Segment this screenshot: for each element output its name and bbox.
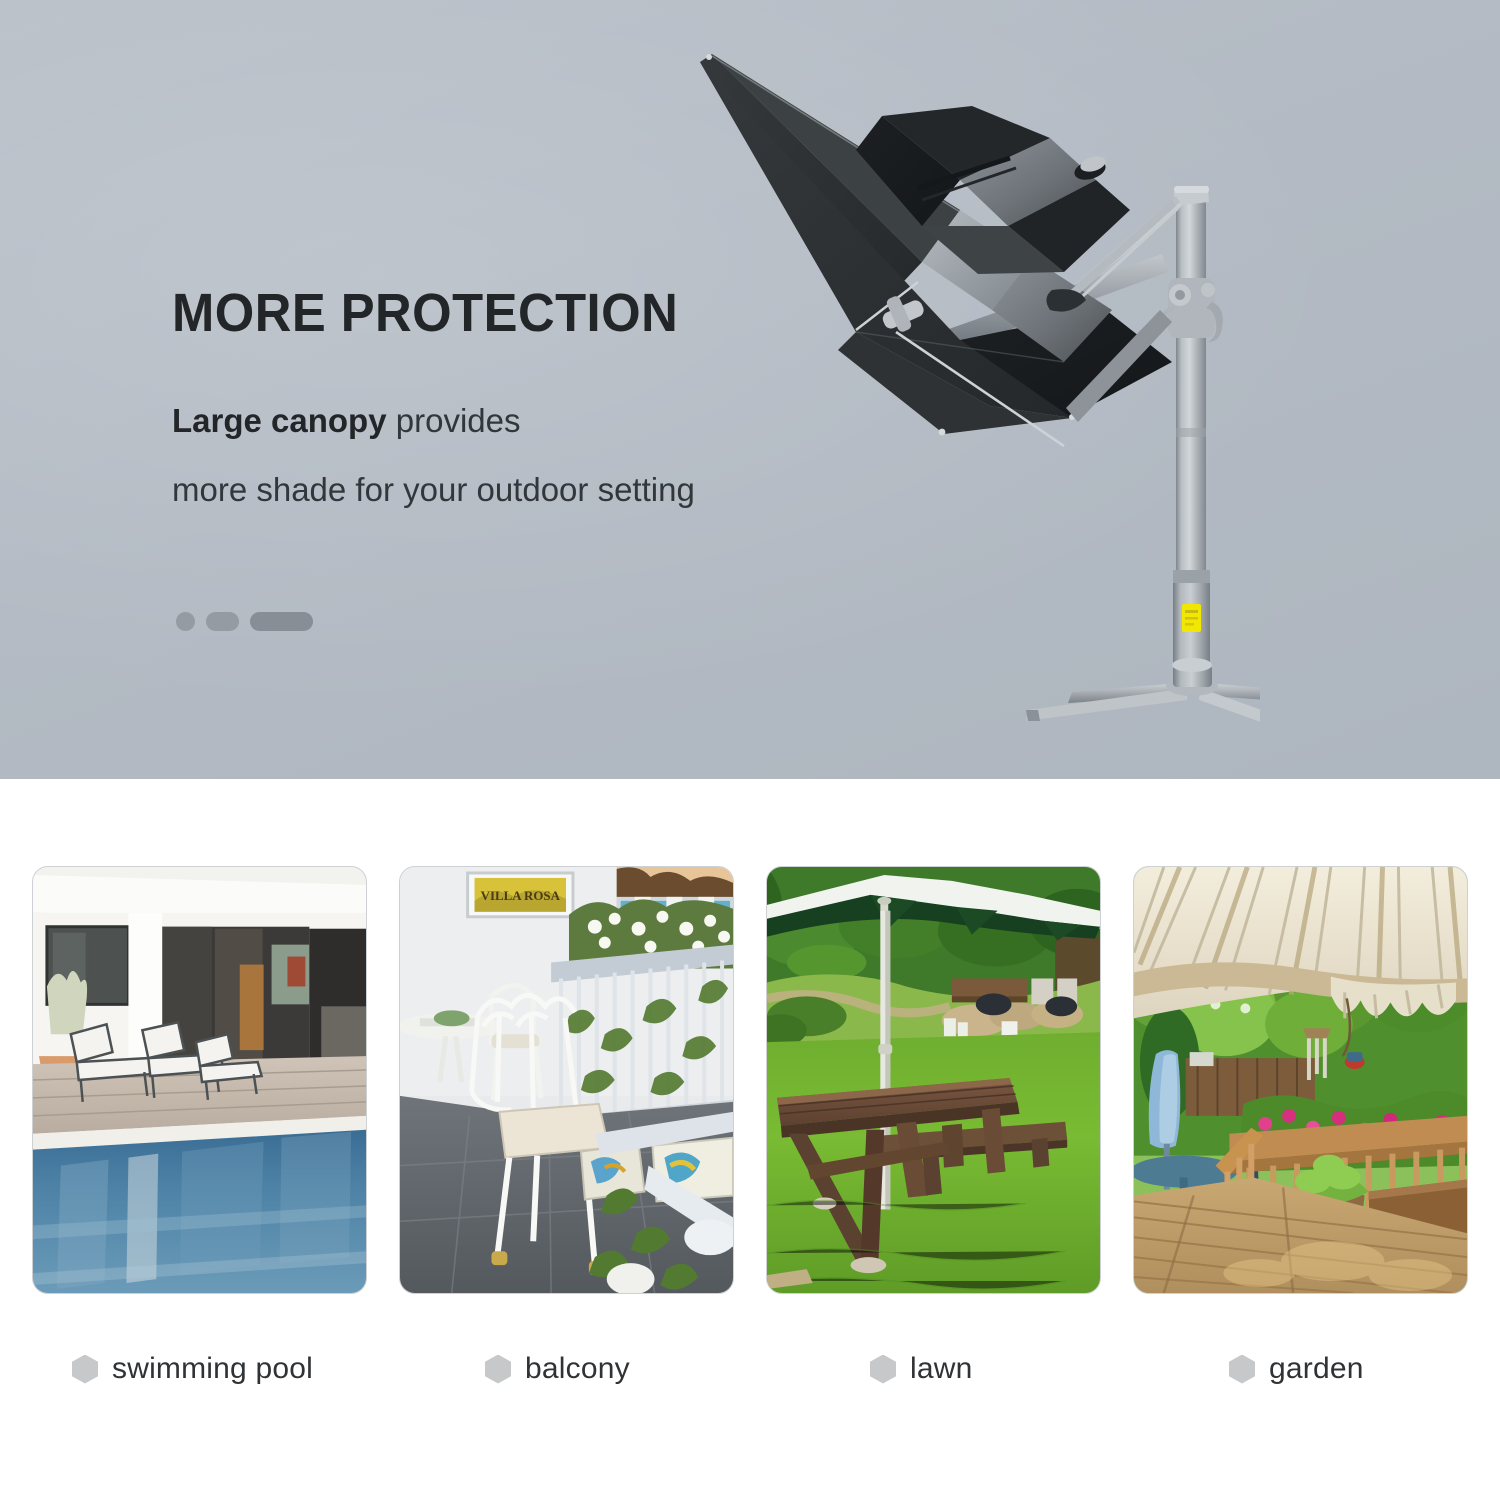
gallery-item-swimming-pool: swimming pool [32, 866, 367, 1386]
scene-lawn [767, 867, 1100, 1293]
hero-subtitle-strong: Large canopy [172, 402, 387, 439]
caption-balcony: balcony [399, 1352, 734, 1386]
gallery-item-balcony: VILLA ROSA [399, 866, 734, 1386]
svg-text:VILLA ROSA: VILLA ROSA [481, 888, 561, 903]
hexagon-bullet-icon [485, 1355, 511, 1384]
hero-panel: MORE PROTECTION Large canopy provides mo… [0, 0, 1500, 779]
scene-swimming-pool [33, 867, 366, 1293]
thumbnail-garden[interactable] [1133, 866, 1468, 1294]
thumbnail-swimming-pool[interactable] [32, 866, 367, 1294]
hero-subtitle-rest: provides [387, 402, 521, 439]
thumbnail-balcony[interactable]: VILLA ROSA [399, 866, 734, 1294]
scene-balcony: VILLA ROSA [400, 867, 733, 1293]
caption-label: lawn [910, 1352, 973, 1386]
scene-garden [1134, 867, 1467, 1293]
gallery-item-lawn: lawn [766, 866, 1101, 1386]
caption-label: garden [1269, 1352, 1364, 1386]
caption-lawn: lawn [766, 1352, 1101, 1386]
hexagon-bullet-icon [1229, 1355, 1255, 1384]
pager-pill-small-icon [206, 612, 239, 631]
umbrella-base [1026, 658, 1260, 726]
pager-dot-icon [176, 612, 195, 631]
umbrella-hinge [1157, 278, 1223, 342]
caption-label: swimming pool [112, 1352, 313, 1386]
hexagon-bullet-icon [72, 1355, 98, 1384]
cantilever-umbrella-image [660, 10, 1260, 750]
caption-label: balcony [525, 1352, 630, 1386]
pager-pill-large-icon [250, 612, 313, 631]
caption-garden: garden [1133, 1352, 1468, 1386]
hexagon-bullet-icon [870, 1355, 896, 1384]
pager-indicator [176, 612, 313, 631]
product-feature-page: MORE PROTECTION Large canopy provides mo… [0, 0, 1500, 1500]
use-case-gallery: swimming pool [0, 866, 1500, 1386]
caption-swimming-pool: swimming pool [32, 1352, 367, 1386]
gallery-item-garden: garden [1133, 866, 1468, 1386]
thumbnail-lawn[interactable] [766, 866, 1101, 1294]
